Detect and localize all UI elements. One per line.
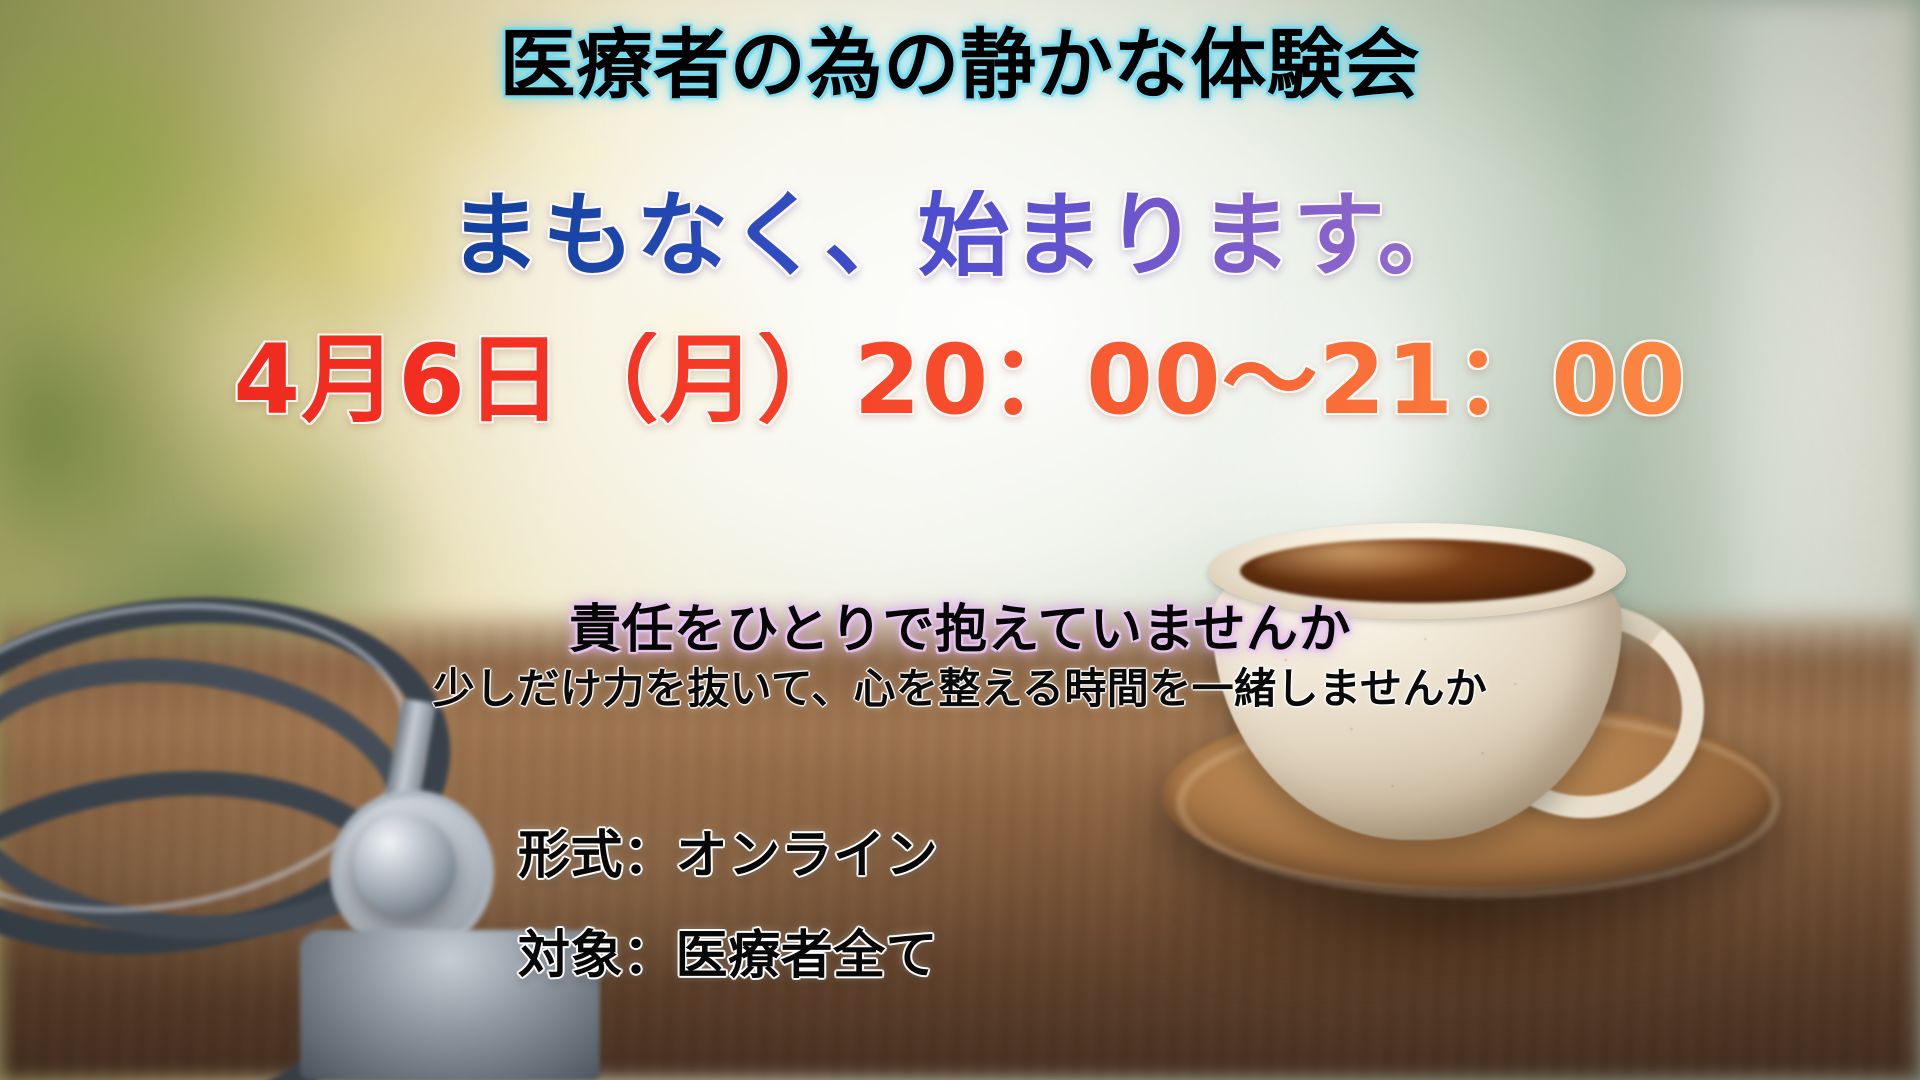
- poster-target-line: 対象：医療者全て: [518, 930, 938, 982]
- poster-title: 医療者の為の静かな体験会: [499, 27, 1420, 103]
- poster-format-line: 形式：オンライン: [518, 830, 938, 882]
- poster-question-primary: 責任をひとりで抱えていませんか: [569, 604, 1351, 656]
- poster-question-secondary: 少しだけ力を抜いて、心を整える時間を一緒しませんか: [433, 668, 1488, 710]
- poster-canvas: 医療者の為の静かな体験会 まもなく、始まります。 4月6日（月）20：00〜21…: [0, 0, 1920, 1080]
- poster-headline: まもなく、始まります。: [448, 190, 1471, 282]
- poster-date-time: 4月6日（月）20：00〜21：00: [233, 332, 1686, 428]
